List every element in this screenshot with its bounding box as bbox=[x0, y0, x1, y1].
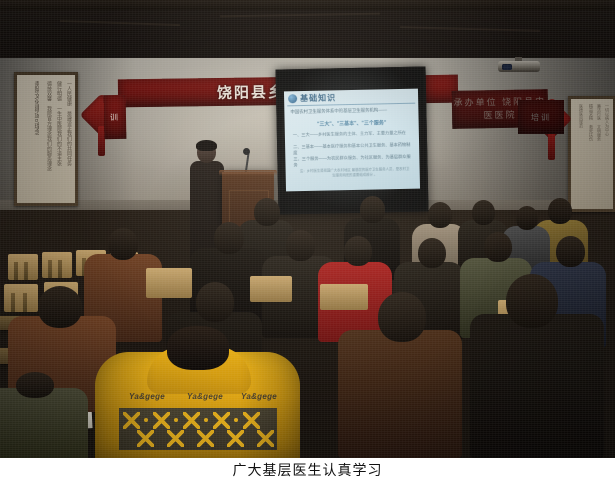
knot-tassel bbox=[548, 130, 555, 160]
chair-slat bbox=[23, 293, 27, 312]
red-banner-left: 训 bbox=[104, 95, 127, 139]
person-head bbox=[254, 198, 280, 226]
wall-calligraphy-frame-left: 一人民健康 是建设正我们的共同任务 健行明德 一生中医院我们的不道主张 德技双馨… bbox=[14, 72, 78, 206]
slide-quote-text: "三大"、"三基本"、"三个服务" bbox=[285, 119, 419, 129]
person-head bbox=[472, 200, 495, 225]
person-head bbox=[344, 236, 372, 266]
ceiling-beam bbox=[0, 0, 615, 10]
photograph: 一人民健康 是建设正我们的共同任务 健行明德 一生中医院我们的不道主张 德技双馨… bbox=[0, 0, 615, 458]
chair-slat bbox=[24, 262, 28, 280]
pattern-x bbox=[197, 430, 214, 447]
slide-title: 基础知识 bbox=[300, 92, 336, 104]
framed-text-column: 一切以病人为中心 bbox=[605, 104, 610, 200]
framed-text-column: 廉洁行医 文明服务 bbox=[597, 104, 602, 200]
pattern-x bbox=[137, 430, 154, 447]
ceiling-streak bbox=[60, 20, 180, 26]
chair bbox=[320, 284, 368, 310]
pattern-x bbox=[183, 412, 200, 429]
chair bbox=[8, 254, 38, 280]
microphone-icon bbox=[243, 148, 250, 155]
slide-lead-text: 中国农村卫生服务体系中的基层卫生服务机构—— bbox=[290, 107, 412, 116]
pattern-dot bbox=[234, 418, 238, 422]
hoodie-pattern-band bbox=[119, 408, 277, 450]
person-head bbox=[16, 372, 54, 398]
photo-page: 一人民健康 是建设正我们的共同任务 健行明德 一生中医院我们的不道主张 德技双馨… bbox=[0, 0, 615, 482]
slide-footnote: 注：乡村医生是我国广大农村地区 最基层的医疗卫生服务人员，是农村卫生服务网底的重… bbox=[300, 167, 410, 178]
slide-bullet-item: 三、三个服务——为农民群众服务、为社区服务、为基层群众服务 bbox=[293, 154, 413, 168]
chair bbox=[250, 276, 292, 302]
hoodie-brand-text: Ya&gege bbox=[187, 392, 223, 401]
slide-bullet-item: 一、三大——乡村医生服务的主体、主力军、主要力量之所在 bbox=[293, 130, 413, 138]
hoodie-brand-text: Ya&gege bbox=[129, 392, 165, 401]
pattern-x bbox=[153, 412, 170, 429]
person-head bbox=[428, 202, 452, 228]
hoodie-brand-text: Ya&gege bbox=[241, 392, 277, 401]
chair-slat bbox=[58, 260, 62, 278]
chair-slat bbox=[11, 293, 15, 312]
pattern-x bbox=[257, 430, 274, 447]
projector-lens bbox=[502, 64, 512, 70]
ceiling-streak bbox=[220, 13, 380, 18]
hoodie-wearer-head bbox=[167, 326, 229, 370]
framed-text-column: 医德医风规范 bbox=[579, 104, 584, 200]
red-banner-far-right: 培训 bbox=[518, 100, 564, 134]
person-head bbox=[506, 274, 558, 328]
person-head bbox=[38, 286, 82, 328]
chair bbox=[42, 252, 72, 278]
calligraphy-column: 德技双馨 我院官方理念我们的服务理念 bbox=[45, 81, 52, 193]
pattern-x bbox=[167, 430, 184, 447]
pattern-x bbox=[227, 430, 244, 447]
pattern-dot bbox=[174, 418, 178, 422]
pattern-x bbox=[213, 412, 230, 429]
person-head bbox=[214, 222, 244, 254]
person-head bbox=[556, 236, 585, 267]
calligraphy-title-column: 贵院文化建设可理念 bbox=[32, 81, 39, 193]
framed-text-column: 精益求精 救死扶伤 bbox=[589, 104, 594, 200]
ceiling bbox=[0, 0, 615, 64]
pattern-dot bbox=[144, 418, 148, 422]
presenter-hair bbox=[196, 140, 217, 151]
chair-slat bbox=[14, 262, 18, 280]
person-yellow-hoodie: Ya&gege Ya&gege Ya&gege bbox=[95, 330, 300, 458]
person-head bbox=[548, 198, 572, 224]
chair bbox=[146, 268, 192, 298]
person-head bbox=[286, 230, 315, 261]
chair bbox=[4, 284, 38, 312]
person-head bbox=[196, 282, 234, 322]
pattern-dot bbox=[204, 418, 208, 422]
wall-text-frame-right: 一切以病人为中心 廉洁行医 文明服务 精益求精 救死扶伤 医德医风规范 bbox=[568, 96, 615, 212]
calligraphy-column: 一人民健康 是建设正我们的共同任务 bbox=[65, 81, 72, 193]
presentation-slide: 基础知识 中国农村卫生服务体系中的基层卫生服务机构—— "三大"、"三基本"、"… bbox=[284, 89, 420, 192]
chair-slat bbox=[48, 260, 52, 278]
person-head bbox=[108, 228, 138, 260]
pattern-x bbox=[243, 412, 260, 429]
pattern-x bbox=[123, 412, 140, 429]
person-torso bbox=[338, 330, 462, 458]
projection-screen: 基础知识 中国农村卫生服务体系中的基层卫生服务机构—— "三大"、"三基本"、"… bbox=[275, 66, 428, 214]
projector-icon bbox=[498, 57, 540, 72]
person-head bbox=[516, 206, 538, 230]
ceiling-streak bbox=[400, 26, 540, 32]
calligraphy-column: 健行明德 一生中医院我们的不道主张 bbox=[55, 81, 62, 193]
person-head bbox=[378, 292, 426, 342]
photo-caption: 广大基层医生认真学习 bbox=[0, 458, 615, 482]
person-head bbox=[484, 232, 512, 262]
slide-emblem-icon bbox=[288, 94, 297, 103]
person-head bbox=[360, 196, 385, 223]
person-torso bbox=[0, 388, 88, 458]
lectern-top bbox=[219, 170, 277, 176]
person-head bbox=[418, 238, 446, 268]
person-torso bbox=[470, 314, 604, 458]
